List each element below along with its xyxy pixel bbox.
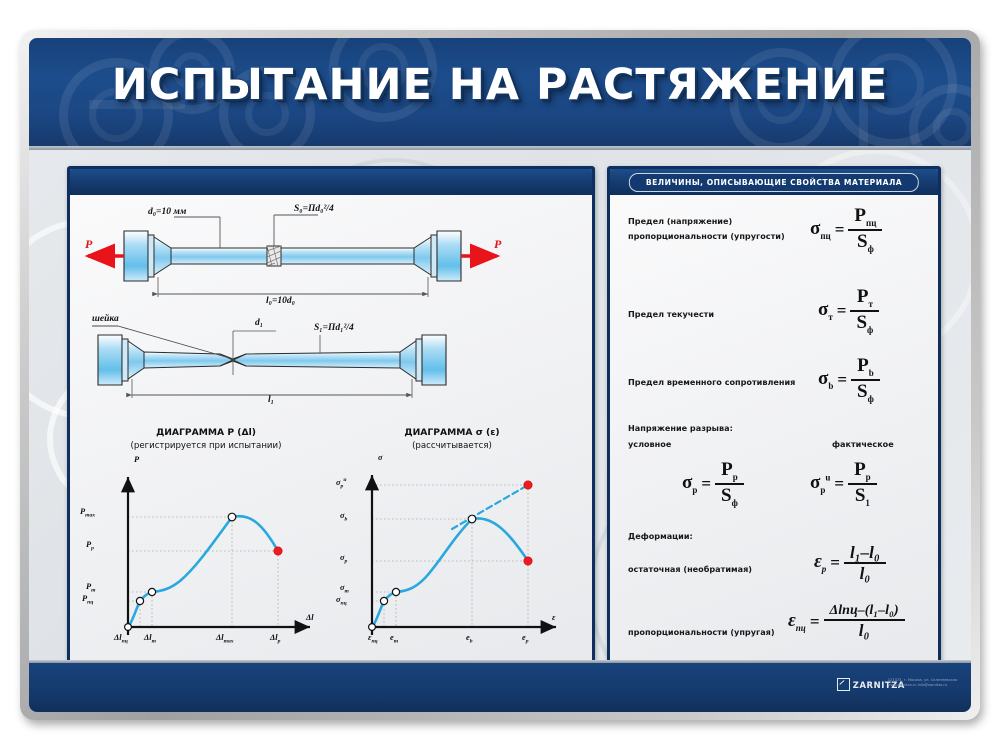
chart-stress-strain: ДИАГРАММА σ (ε) (рассчитывается): [328, 427, 576, 659]
formula-sigma-pc: σпц = Pпц Sф: [810, 205, 882, 255]
neck-area-label: S₁=Пd₁²/4: [314, 323, 354, 333]
property-label-yield: Предел текучести: [628, 309, 714, 319]
chart-right-xtick-3: еp: [522, 633, 529, 645]
panel-material-properties: ВЕЛИЧИНЫ, ОПИСЫВАЮЩИЕ СВОЙСТВА МАТЕРИАЛА…: [607, 166, 941, 678]
formula-sigma-p-conditional: σp = Pp Sф: [682, 459, 744, 509]
specimen-necked-diagram: шейка d₁ S₁=Пd₁²/4 l₁: [70, 309, 592, 419]
strain-label-proportional: пропорциональности (упругая): [628, 627, 775, 637]
chart-left-title: ДИАГРАММА P (Δl): [82, 427, 330, 438]
chart-right-ylabel: σ: [378, 453, 383, 462]
chart-left-ylabel: P: [134, 455, 139, 464]
chart-right-ytick-2: σp: [340, 553, 347, 565]
specimen-length-label: l₀=10d₀: [266, 296, 295, 306]
formula-sigma-t: σт = Pт Sф: [818, 286, 879, 336]
poster-root: ИСПЫТАНИЕ НА РАСТЯЖЕНИЕ: [0, 0, 1000, 750]
neck-length-label: l₁: [268, 395, 274, 405]
chart-right-xtick-1: ет: [390, 633, 398, 645]
chart-left-svg: [82, 457, 330, 657]
chart-left-ytick-0: Pпц: [82, 594, 93, 606]
rupture-label-conditional: условное: [628, 439, 671, 449]
chart-left-subtitle: (регистрируется при испытании): [82, 441, 330, 451]
specimen-area-label: S₀=Пd₀²/4: [294, 204, 334, 214]
chart-right-ytick-3: σb: [340, 511, 347, 523]
footer-contact-line2: www.zarnitza.ru info@zarnitza.ru: [888, 683, 957, 688]
chart-load-elongation: ДИАГРАММА P (Δl) (регистрируется при исп…: [82, 427, 330, 659]
formula-sigma-b: σb = Pb Sф: [818, 355, 880, 405]
specimen-initial-diagram: d₀=10 мм S₀=Пd₀²/4 l₀=10d₀ P P: [70, 199, 592, 311]
rupture-heading: Напряжение разрыва:: [628, 423, 733, 433]
chart-right-subtitle: (рассчитывается): [328, 441, 576, 451]
property-label-proportionality-line2: пропорциональности (упругости): [628, 231, 785, 241]
specimen-diameter-label: d₀=10 мм: [148, 207, 186, 217]
force-label-left: P: [85, 237, 92, 252]
poster-header: ИСПЫТАНИЕ НА РАСТЯЖЕНИЕ: [29, 38, 971, 150]
panel-diagrams: d₀=10 мм S₀=Пd₀²/4 l₀=10d₀ P P: [67, 166, 595, 678]
chart-right-xtick-2: еb: [466, 633, 473, 645]
page-title: ИСПЫТАНИЕ НА РАСТЯЖЕНИЕ: [29, 60, 971, 110]
formula-epsilon-pc: εпц = Δlпц–(l₁–l₀) l₀: [788, 603, 905, 640]
chart-left-ytick-3: Pmax: [80, 507, 95, 519]
chart-right-xtick-0: εпц: [368, 633, 378, 645]
footer-contact: 127473, г. Москва, ул. Селезневская www.…: [888, 678, 957, 689]
poster-footer: ZARNITZA 127473, г. Москва, ул. Селезнев…: [29, 660, 971, 712]
neck-diameter-label: d₁: [255, 318, 263, 328]
chart-right-svg: [328, 457, 576, 657]
chart-right-ytick-4: σpu: [336, 477, 346, 489]
chart-left-xtick-3: Δlp: [270, 633, 280, 645]
panel-right-badge: ВЕЛИЧИНЫ, ОПИСЫВАЮЩИЕ СВОЙСТВА МАТЕРИАЛА: [629, 173, 919, 192]
formula-epsilon-p: εp = l₁–l₀ l₀: [814, 543, 886, 583]
strain-label-residual: остаточная (необратимая): [628, 564, 752, 574]
chart-right-title: ДИАГРАММА σ (ε): [328, 427, 576, 438]
formula-sigma-p-actual: σpu = Pp S1: [810, 459, 877, 509]
property-label-proportionality-line1: Предел (напряжение): [628, 216, 732, 226]
header-divider: [29, 146, 971, 150]
chart-right-xlabel: ε: [552, 613, 555, 622]
zarnitza-logo-icon: [837, 678, 850, 691]
chart-left-xtick-2: Δlmax: [216, 633, 234, 645]
chart-left-xlabel: Δl: [306, 613, 314, 622]
force-label-right: P: [494, 237, 501, 252]
rupture-label-actual: фактическое: [832, 439, 894, 449]
strain-heading: Деформации:: [628, 531, 693, 541]
chart-left-xtick-0: Δlпц: [114, 633, 128, 645]
chart-right-ytick-1: σт: [340, 583, 349, 595]
footer-divider: [29, 660, 971, 663]
property-label-ultimate: Предел временного сопротивления: [628, 377, 795, 387]
chart-left-xtick-1: Δlт: [144, 633, 156, 645]
panel-left-topbar: [70, 169, 592, 195]
chart-left-ytick-1: Pт: [86, 582, 95, 594]
neck-label: шейка: [92, 314, 119, 324]
chart-right-ytick-0: σпц: [336, 595, 347, 607]
poster-inner-board: ИСПЫТАНИЕ НА РАСТЯЖЕНИЕ: [29, 38, 971, 712]
chart-left-ytick-2: Pp: [86, 540, 94, 552]
